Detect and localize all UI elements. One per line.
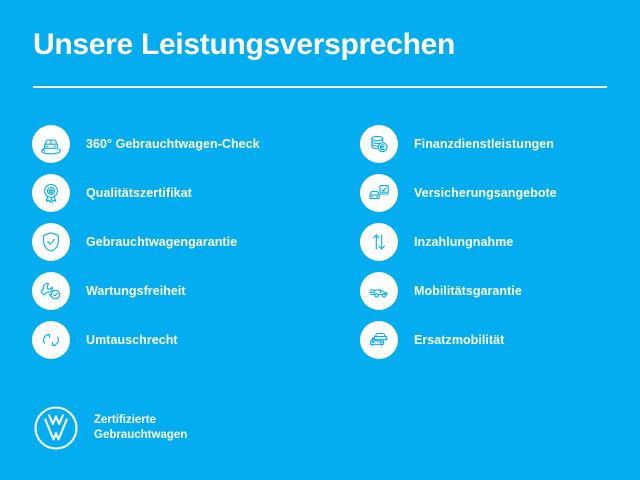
footer-line-2: Gebrauchtwagen	[94, 429, 187, 441]
benefit-label: Gebrauchtwagengarantie	[86, 235, 237, 249]
benefit-label: Qualitätszertifikat	[86, 186, 192, 200]
benefit-label: Finanzdienstleistungen	[414, 137, 554, 151]
benefit-item[interactable]: Qualitätszertifikat	[32, 174, 332, 212]
benefit-label: Umtauschrecht	[86, 333, 178, 347]
benefits-column-left: 360° Gebrauchtwagen-Check Qualitätszerti…	[32, 125, 332, 370]
vw-roundel-logo	[32, 404, 80, 452]
benefit-label: Mobilitätsgarantie	[414, 284, 522, 298]
two-cars-icon	[360, 321, 398, 359]
benefit-label: 360° Gebrauchtwagen-Check	[86, 137, 260, 151]
wrench-check-icon	[32, 272, 70, 310]
quality-rosette-icon	[32, 174, 70, 212]
coins-euro-icon	[360, 125, 398, 163]
up-down-arrows-icon	[360, 223, 398, 261]
benefit-label: Inzahlungnahme	[414, 235, 513, 249]
benefit-item[interactable]: Gebrauchtwagengarantie	[32, 223, 332, 261]
car-document-check-icon	[360, 174, 398, 212]
page-title: Unsere Leistungsversprechen	[33, 28, 455, 62]
benefit-item[interactable]: Finanzdienstleistungen	[360, 125, 640, 163]
benefit-item[interactable]: Ersatzmobilität	[360, 321, 640, 359]
benefits-slide: Unsere Leistungsversprechen 360° Ge	[0, 0, 640, 480]
benefit-label: Ersatzmobilität	[414, 333, 504, 347]
benefit-item[interactable]: Wartungsfreiheit	[32, 272, 332, 310]
benefit-label: Wartungsfreiheit	[86, 284, 186, 298]
benefit-item[interactable]: Umtauschrecht	[32, 321, 332, 359]
benefit-label: Versicherungsangebote	[414, 186, 557, 200]
benefit-item[interactable]: Versicherungsangebote	[360, 174, 640, 212]
benefit-item[interactable]: Inzahlungnahme	[360, 223, 640, 261]
car-360-check-icon	[32, 125, 70, 163]
footer-branding: Zertifizierte Gebrauchtwagen	[32, 404, 187, 452]
exchange-arrows-icon	[32, 321, 70, 359]
car-mobility-icon	[360, 272, 398, 310]
benefit-item[interactable]: Mobilitätsgarantie	[360, 272, 640, 310]
footer-line-1: Zertifizierte	[94, 414, 156, 426]
shield-check-icon	[32, 223, 70, 261]
benefits-column-right: Finanzdienstleistungen Versicherungsange…	[360, 125, 640, 370]
title-divider	[33, 86, 607, 88]
benefit-item[interactable]: 360° Gebrauchtwagen-Check	[32, 125, 332, 163]
footer-text: Zertifizierte Gebrauchtwagen	[94, 413, 187, 443]
